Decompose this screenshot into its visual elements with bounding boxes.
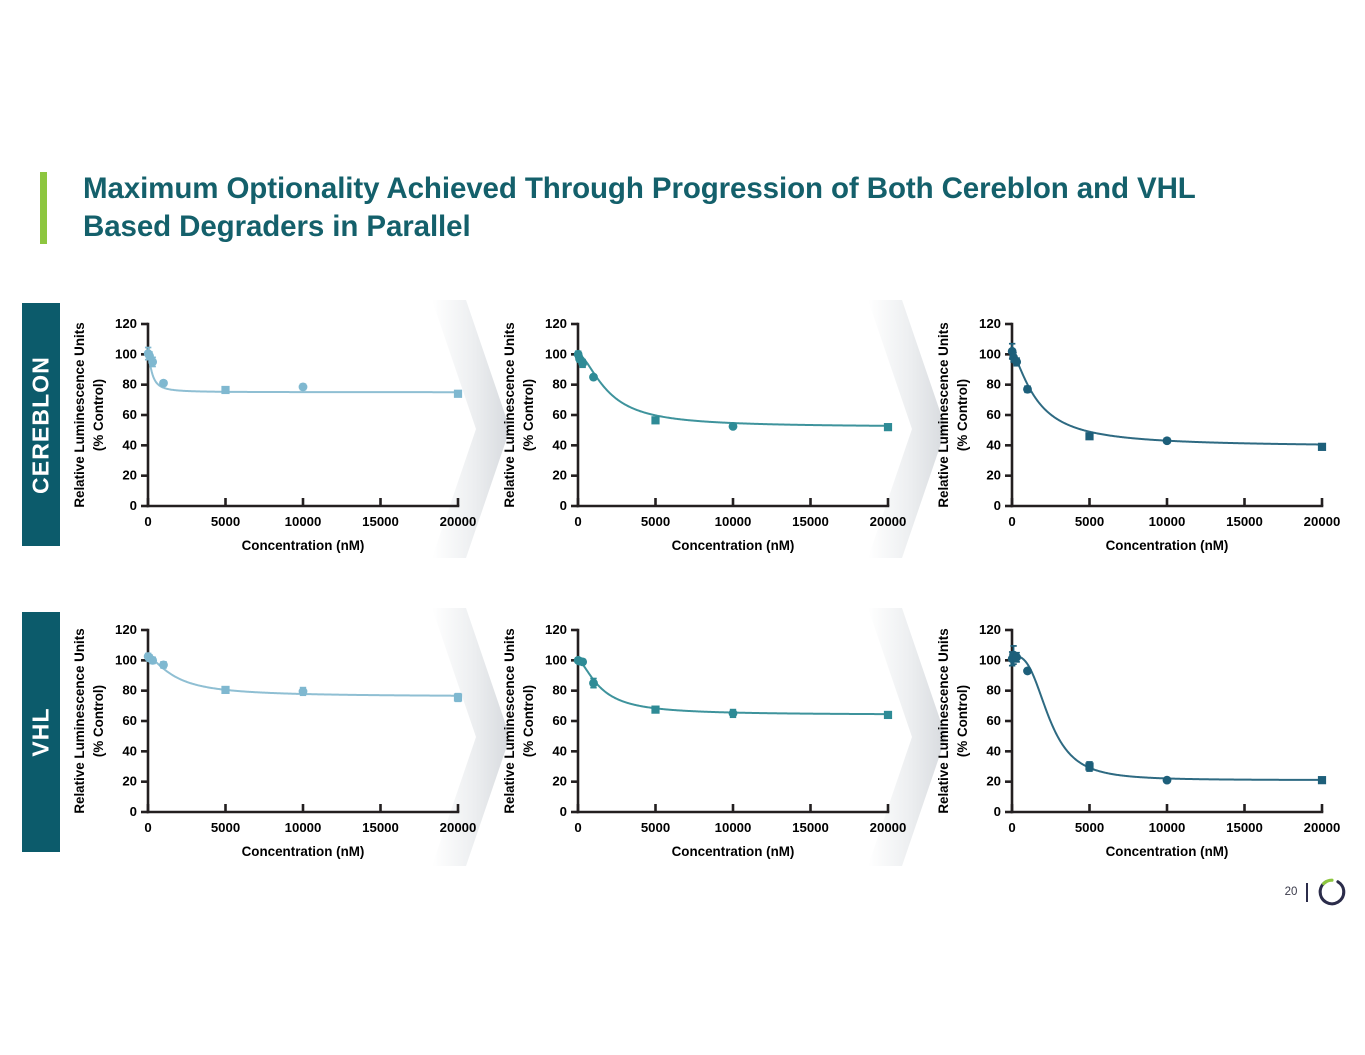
svg-text:0: 0	[1008, 820, 1015, 835]
data-marker	[884, 423, 892, 431]
data-marker	[1163, 436, 1172, 445]
y-axis-ticks: 020406080100120	[979, 316, 1012, 513]
data-marker	[299, 383, 308, 392]
y-axis-title: Relative Luminescence Units(% Control)	[72, 322, 106, 507]
x-axis-title: Concentration (nM)	[672, 538, 795, 553]
page-title: Maximum Optionality Achieved Through Pro…	[83, 170, 1263, 247]
svg-text:80: 80	[122, 377, 137, 392]
svg-text:15000: 15000	[792, 820, 829, 835]
svg-text:0: 0	[1008, 514, 1015, 529]
svg-text:20000: 20000	[870, 820, 907, 835]
svg-text:80: 80	[986, 377, 1001, 392]
data-marker	[221, 686, 229, 694]
svg-text:10000: 10000	[285, 514, 322, 529]
svg-text:Relative Luminescence Units: Relative Luminescence Units	[72, 322, 87, 507]
y-axis-ticks: 020406080100120	[545, 622, 578, 819]
chart-cereblon-2: Relative Luminescence Units(% Control)02…	[492, 302, 892, 564]
x-axis-title: Concentration (nM)	[1106, 538, 1229, 553]
y-axis-title: Relative Luminescence Units(% Control)	[502, 628, 536, 813]
svg-text:20000: 20000	[1304, 514, 1341, 529]
svg-text:Relative Luminescence Units: Relative Luminescence Units	[502, 628, 517, 813]
data-marker	[454, 390, 462, 398]
chart-vhl-3: Relative Luminescence Units(% Control)02…	[926, 608, 1326, 870]
y-axis-ticks: 020406080100120	[115, 316, 148, 513]
svg-text:Relative Luminescence Units: Relative Luminescence Units	[936, 628, 951, 813]
svg-text:60: 60	[552, 713, 567, 728]
svg-text:40: 40	[986, 743, 1001, 758]
svg-text:0: 0	[994, 804, 1001, 819]
y-axis-ticks: 020406080100120	[545, 316, 578, 513]
svg-text:0: 0	[994, 498, 1001, 513]
svg-text:20: 20	[986, 468, 1001, 483]
svg-text:80: 80	[552, 683, 567, 698]
data-points	[574, 656, 892, 719]
svg-text:120: 120	[979, 622, 1001, 637]
svg-text:20000: 20000	[440, 820, 477, 835]
svg-text:10000: 10000	[715, 514, 752, 529]
data-marker	[148, 656, 157, 665]
x-axis-title: Concentration (nM)	[242, 844, 365, 859]
data-marker	[1318, 776, 1326, 784]
svg-text:20: 20	[986, 774, 1001, 789]
fit-curve	[578, 354, 888, 426]
svg-text:20: 20	[552, 774, 567, 789]
y-axis-title: Relative Luminescence Units(% Control)	[502, 322, 536, 507]
row-label-vhl: VHL	[22, 612, 60, 852]
chart-svg: Relative Luminescence Units(% Control)02…	[926, 302, 1326, 564]
x-axis-title: Concentration (nM)	[1106, 844, 1229, 859]
data-marker	[454, 693, 462, 701]
svg-text:Relative Luminescence Units: Relative Luminescence Units	[72, 628, 87, 813]
svg-text:15000: 15000	[362, 514, 399, 529]
svg-text:100: 100	[979, 346, 1001, 361]
data-points	[1008, 344, 1326, 451]
title-accent-bar	[40, 172, 47, 244]
svg-text:10000: 10000	[1149, 514, 1186, 529]
svg-text:0: 0	[130, 804, 137, 819]
data-marker	[1085, 762, 1093, 770]
data-marker	[651, 416, 659, 424]
svg-text:(% Control): (% Control)	[521, 685, 536, 757]
svg-text:15000: 15000	[1226, 514, 1263, 529]
svg-text:0: 0	[574, 514, 581, 529]
svg-text:Relative Luminescence Units: Relative Luminescence Units	[502, 322, 517, 507]
svg-text:5000: 5000	[1075, 514, 1104, 529]
svg-text:60: 60	[986, 407, 1001, 422]
x-axis-title: Concentration (nM)	[242, 538, 365, 553]
svg-text:5000: 5000	[641, 820, 670, 835]
x-axis-ticks: 05000100001500020000	[144, 804, 476, 835]
y-axis-title: Relative Luminescence Units(% Control)	[72, 628, 106, 813]
svg-text:10000: 10000	[1149, 820, 1186, 835]
y-axis-title: Relative Luminescence Units(% Control)	[936, 322, 970, 507]
data-marker	[729, 709, 738, 718]
data-marker	[1012, 653, 1021, 662]
data-marker	[1085, 432, 1093, 440]
slide-footer: 20	[1285, 877, 1347, 907]
x-axis-ticks: 05000100001500020000	[1008, 498, 1340, 529]
y-axis-ticks: 020406080100120	[979, 622, 1012, 819]
svg-text:0: 0	[130, 498, 137, 513]
data-marker	[578, 657, 587, 666]
svg-text:15000: 15000	[362, 820, 399, 835]
svg-text:60: 60	[122, 713, 137, 728]
x-axis-title: Concentration (nM)	[672, 844, 795, 859]
brand-logo-icon	[1317, 877, 1347, 907]
svg-text:20: 20	[122, 774, 137, 789]
svg-text:0: 0	[574, 820, 581, 835]
svg-text:40: 40	[122, 437, 137, 452]
svg-text:(% Control): (% Control)	[91, 379, 106, 451]
row-label-cereblon-text: CEREBLON	[28, 356, 55, 494]
svg-text:5000: 5000	[641, 514, 670, 529]
data-marker	[578, 359, 587, 368]
y-axis-title: Relative Luminescence Units(% Control)	[936, 628, 970, 813]
data-marker	[589, 373, 598, 382]
data-marker	[1163, 776, 1172, 785]
svg-text:60: 60	[552, 407, 567, 422]
svg-text:120: 120	[545, 622, 567, 637]
page-number: 20	[1285, 886, 1298, 898]
svg-text:100: 100	[979, 652, 1001, 667]
chart-svg: Relative Luminescence Units(% Control)02…	[62, 302, 462, 564]
svg-text:0: 0	[560, 498, 567, 513]
data-points	[574, 350, 892, 431]
svg-text:100: 100	[545, 652, 567, 667]
svg-text:10000: 10000	[715, 820, 752, 835]
data-marker	[159, 660, 168, 669]
svg-text:5000: 5000	[1075, 820, 1104, 835]
svg-text:40: 40	[552, 743, 567, 758]
data-marker	[884, 711, 892, 719]
svg-text:5000: 5000	[211, 514, 240, 529]
x-axis-ticks: 05000100001500020000	[574, 498, 906, 529]
svg-text:(% Control): (% Control)	[521, 379, 536, 451]
data-points	[144, 652, 462, 701]
svg-text:(% Control): (% Control)	[91, 685, 106, 757]
x-axis-ticks: 05000100001500020000	[1008, 804, 1340, 835]
data-marker	[1318, 443, 1326, 451]
svg-text:60: 60	[122, 407, 137, 422]
svg-text:(% Control): (% Control)	[955, 379, 970, 451]
x-axis-ticks: 05000100001500020000	[574, 804, 906, 835]
data-marker	[589, 679, 598, 688]
data-marker	[1023, 667, 1032, 676]
data-marker	[148, 358, 157, 367]
svg-text:20000: 20000	[1304, 820, 1341, 835]
fit-curve	[1012, 353, 1322, 445]
chart-svg: Relative Luminescence Units(% Control)02…	[492, 302, 892, 564]
svg-text:100: 100	[545, 346, 567, 361]
data-marker	[159, 379, 168, 388]
svg-text:0: 0	[560, 804, 567, 819]
row-label-vhl-text: VHL	[28, 707, 55, 756]
svg-text:20000: 20000	[440, 514, 477, 529]
data-marker	[221, 386, 229, 394]
svg-text:100: 100	[115, 346, 137, 361]
chart-svg: Relative Luminescence Units(% Control)02…	[926, 608, 1326, 870]
chart-vhl-1: Relative Luminescence Units(% Control)02…	[62, 608, 462, 870]
data-points	[1008, 646, 1326, 785]
svg-text:80: 80	[122, 683, 137, 698]
svg-text:40: 40	[986, 437, 1001, 452]
footer-divider	[1306, 883, 1308, 902]
svg-text:80: 80	[552, 377, 567, 392]
svg-text:Relative Luminescence Units: Relative Luminescence Units	[936, 322, 951, 507]
svg-text:0: 0	[144, 820, 151, 835]
svg-text:120: 120	[979, 316, 1001, 331]
svg-text:20: 20	[122, 468, 137, 483]
svg-text:20000: 20000	[870, 514, 907, 529]
chart-vhl-2: Relative Luminescence Units(% Control)02…	[492, 608, 892, 870]
x-axis-ticks: 05000100001500020000	[144, 498, 476, 529]
fit-curve	[578, 660, 888, 714]
fit-curve	[1012, 656, 1322, 780]
svg-text:120: 120	[115, 316, 137, 331]
chart-svg: Relative Luminescence Units(% Control)02…	[492, 608, 892, 870]
svg-text:0: 0	[144, 514, 151, 529]
svg-text:120: 120	[115, 622, 137, 637]
svg-text:40: 40	[122, 743, 137, 758]
svg-text:40: 40	[552, 437, 567, 452]
svg-text:120: 120	[545, 316, 567, 331]
data-marker	[651, 706, 659, 714]
data-marker	[1023, 385, 1032, 394]
y-axis-ticks: 020406080100120	[115, 622, 148, 819]
svg-text:10000: 10000	[285, 820, 322, 835]
svg-text:5000: 5000	[211, 820, 240, 835]
svg-text:15000: 15000	[792, 514, 829, 529]
chart-svg: Relative Luminescence Units(% Control)02…	[62, 608, 462, 870]
svg-text:(% Control): (% Control)	[955, 685, 970, 757]
svg-text:20: 20	[552, 468, 567, 483]
chart-cereblon-3: Relative Luminescence Units(% Control)02…	[926, 302, 1326, 564]
slide-canvas: Maximum Optionality Achieved Through Pro…	[0, 0, 1365, 1055]
data-marker	[1012, 358, 1021, 367]
chart-cereblon-1: Relative Luminescence Units(% Control)02…	[62, 302, 462, 564]
data-marker	[729, 422, 738, 431]
row-label-cereblon: CEREBLON	[22, 303, 60, 546]
svg-text:60: 60	[986, 713, 1001, 728]
svg-text:100: 100	[115, 652, 137, 667]
svg-text:15000: 15000	[1226, 820, 1263, 835]
svg-text:80: 80	[986, 683, 1001, 698]
data-marker	[299, 687, 308, 696]
